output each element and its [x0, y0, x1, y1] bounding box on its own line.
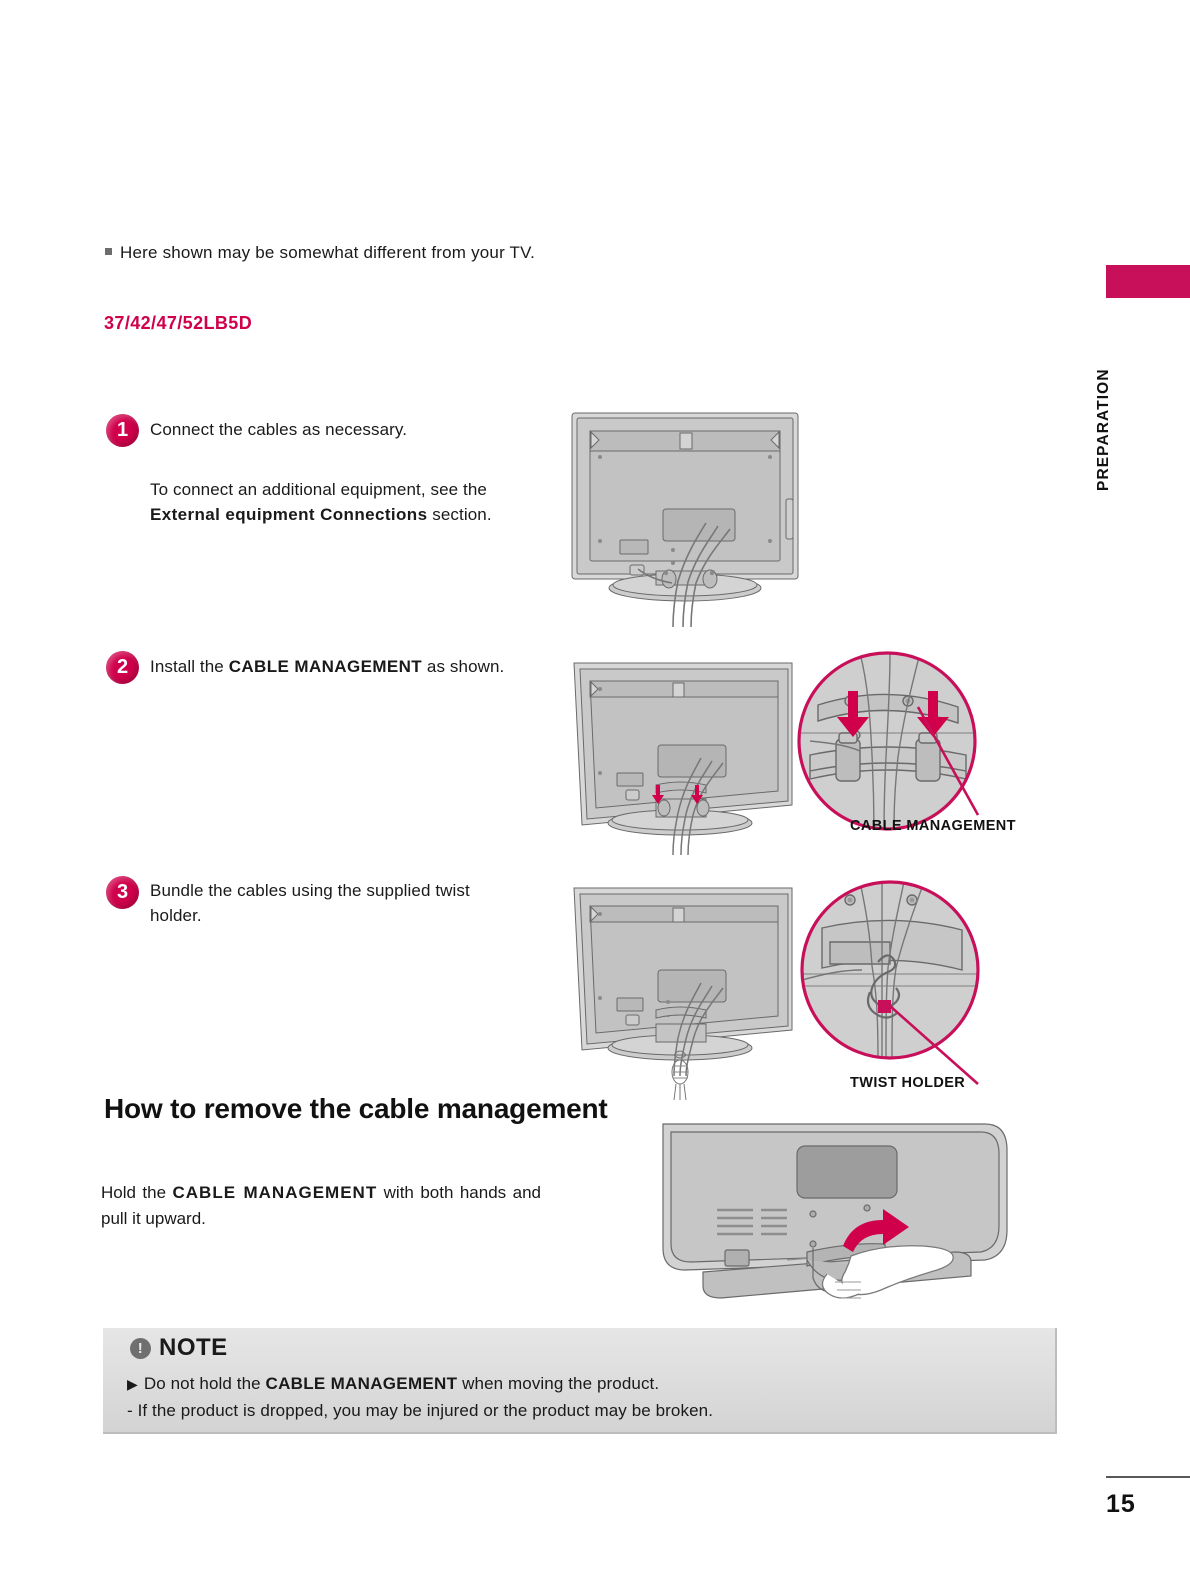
- step-1-line2-bold: External equipment Connections: [150, 505, 427, 524]
- step-3-number: 3: [106, 876, 139, 909]
- section-tab-label: PREPARATION: [1095, 330, 1135, 530]
- section-body-pre: Hold the: [101, 1183, 172, 1202]
- page-number-rule: [1106, 1476, 1190, 1478]
- note-title-text: NOTE: [159, 1334, 228, 1362]
- figure-step-1-tv-rear: [560, 405, 810, 635]
- step-2-pre: Install the: [150, 657, 229, 676]
- top-note: Here shown may be somewhat different fro…: [105, 243, 535, 263]
- step-3-text: Bundle the cables using the supplied twi…: [150, 878, 530, 928]
- section-body: Hold the CABLE MANAGEMENT with both hand…: [101, 1180, 541, 1232]
- top-note-text: Here shown may be somewhat different fro…: [120, 243, 535, 262]
- step-1-text-secondary: To connect an additional equipment, see …: [150, 477, 540, 527]
- page-number: 15: [1106, 1490, 1166, 1519]
- note-line-2: - If the product is dropped, you may be …: [127, 1401, 713, 1421]
- step-1-number: 1: [106, 414, 139, 447]
- section-tab-marker: [1106, 265, 1190, 298]
- step-2-bold: CABLE MANAGEMENT: [229, 657, 422, 676]
- step-1-line2-post: section.: [427, 505, 491, 524]
- step-1-line2-pre: To connect an additional equipment, see …: [150, 480, 487, 499]
- step-1-line1: Connect the cables as necessary.: [150, 420, 407, 439]
- callout-twist-holder: TWIST HOLDER: [850, 1075, 965, 1091]
- note-title: ! NOTE: [130, 1334, 228, 1362]
- step-2-number: 2: [106, 651, 139, 684]
- step-3-line2: holder.: [150, 906, 202, 925]
- figure-step-3-twist-holder: [560, 870, 1010, 1100]
- callout-cable-management: CABLE MANAGEMENT: [850, 818, 1016, 834]
- exclamation-icon: !: [130, 1338, 151, 1359]
- section-body-bold: CABLE MANAGEMENT: [172, 1183, 377, 1202]
- figure-remove-cable-management: [655, 1110, 1015, 1310]
- step-1-text-primary: Connect the cables as necessary.: [150, 417, 550, 442]
- model-heading: 37/42/47/52LB5D: [104, 313, 252, 334]
- section-heading: How to remove the cable management: [104, 1093, 608, 1125]
- note-box: ! NOTE ▶Do not hold the CABLE MANAGEMENT…: [103, 1328, 1057, 1434]
- step-3-line1: Bundle the cables using the supplied twi…: [150, 881, 470, 900]
- square-bullet-icon: [105, 248, 112, 255]
- note-line-1-pre: Do not hold the: [144, 1374, 266, 1393]
- note-line-1-bold: CABLE MANAGEMENT: [266, 1374, 458, 1393]
- note-line-1: ▶Do not hold the CABLE MANAGEMENT when m…: [127, 1374, 659, 1394]
- note-line-1-post: when moving the product.: [457, 1374, 659, 1393]
- step-2-text: Install the CABLE MANAGEMENT as shown.: [150, 654, 570, 679]
- triangle-bullet-icon: ▶: [127, 1376, 138, 1393]
- step-2-post: as shown.: [422, 657, 504, 676]
